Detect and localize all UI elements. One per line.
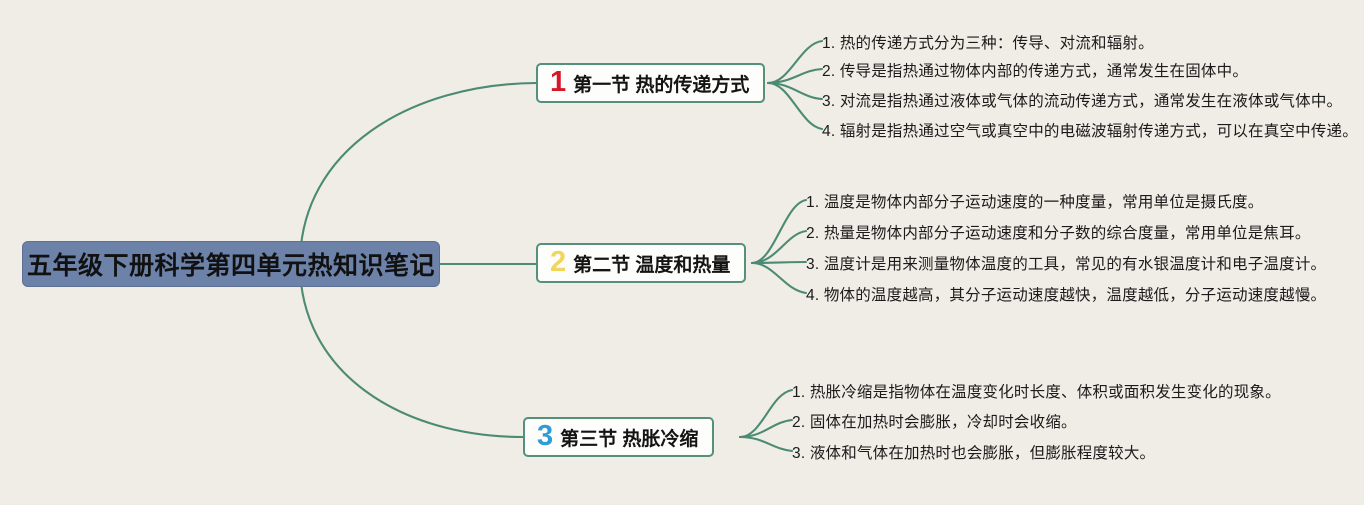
leaf-2-1: 1. 温度是物体内部分子运动速度的一种度量，常用单位是摄氏度。 [806,190,1263,212]
edge-branch-1-leaf-2 [768,69,822,83]
leaf-2-4: 4. 物体的温度越高，其分子运动速度越快，温度越低，分子运动速度越慢。 [806,283,1326,305]
branch-node-1[interactable]: 1 第一节 热的传递方式 [536,63,765,103]
edge-branch-2-leaf-2 [752,231,806,263]
branch-1-index: 1 [550,68,566,97]
branch-1-label: 第一节 热的传递方式 [573,70,749,97]
leaf-3-1: 1. 热胀冷缩是指物体在温度变化时长度、体积或面积发生变化的现象。 [792,380,1281,402]
edge-branch-3-leaf-2 [740,420,792,437]
leaf-1-1: 1. 热的传递方式分为三种：传导、对流和辐射。 [822,31,1154,53]
branch-2-index: 2 [550,248,566,277]
edge-branch-2-leaf-4 [752,263,806,293]
root-node-label: 五年级下册科学第四单元热知识笔记 [27,246,435,282]
leaf-1-2: 2. 传导是指热通过物体内部的传递方式，通常发生在固体中。 [822,59,1248,81]
edge-branch-1-leaf-3 [768,83,822,99]
edge-branch-3-leaf-1 [740,390,792,437]
branch-node-3[interactable]: 3 第三节 热胀冷缩 [523,417,714,457]
edge-branch-1-leaf-1 [768,41,822,83]
branch-3-label: 第三节 热胀冷缩 [560,424,698,451]
edge-branch-1-leaf-4 [768,83,822,129]
branch-2-label: 第二节 温度和热量 [573,250,730,277]
leaf-1-4: 4. 辐射是指热通过空气或真空中的电磁波辐射传递方式，可以在真空中传递。 [822,119,1358,141]
edge-branch-3-leaf-3 [740,437,792,451]
branch-3-index: 3 [537,422,553,451]
edge-branch-2-leaf-3 [752,262,806,263]
leaf-3-3: 3. 液体和气体在加热时也会膨胀，但膨胀程度较大。 [792,441,1155,463]
branch-node-2[interactable]: 2 第二节 温度和热量 [536,243,746,283]
edge-root-to-branch-3 [300,264,523,437]
leaf-3-2: 2. 固体在加热时会膨胀，冷却时会收缩。 [792,410,1077,432]
leaf-2-2: 2. 热量是物体内部分子运动速度和分子数的综合度量，常用单位是焦耳。 [806,221,1311,243]
edge-root-to-branch-1 [300,83,536,264]
mindmap-canvas: 五年级下册科学第四单元热知识笔记 1 第一节 热的传递方式 2 第二节 温度和热… [0,0,1364,505]
edge-branch-2-leaf-1 [752,200,806,263]
leaf-2-3: 3. 温度计是用来测量物体温度的工具，常见的有水银温度计和电子温度计。 [806,252,1326,274]
root-node[interactable]: 五年级下册科学第四单元热知识笔记 [22,241,440,287]
leaf-1-3: 3. 对流是指热通过液体或气体的流动传递方式，通常发生在液体或气体中。 [822,89,1342,111]
